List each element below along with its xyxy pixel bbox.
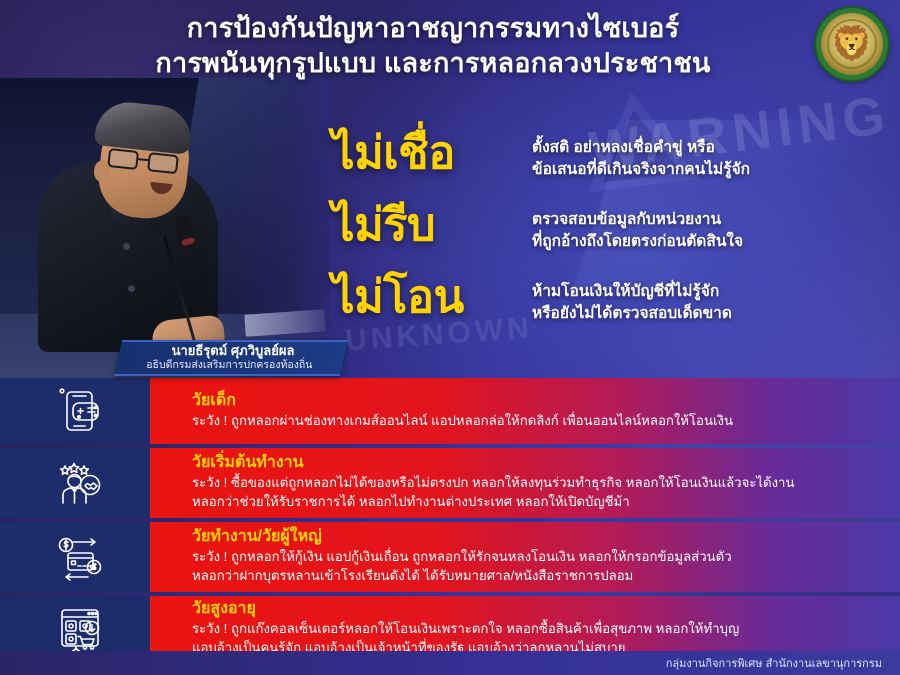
speaker-photo — [0, 78, 330, 378]
age-group-row-early-career: วัยเริ่มต้นทำงาน ระวัง ! ซื้อของแต่ถูกหล… — [0, 448, 900, 518]
age-group-title-2: วัยเริ่มต้นทำงาน — [192, 453, 886, 473]
slogan-row-3: ไม่โอน ห้ามโอนเงินให้บัญชีที่ไม่รู้จัก ห… — [332, 274, 900, 336]
age-group-bar-3: วัยทำงาน/วัยผู้ใหญ่ ระวัง ! ถูกหลอกให้กู… — [150, 522, 900, 592]
slogan-3-line-1: ห้ามโอนเงินให้บัญชีที่ไม่รู้จัก — [532, 281, 732, 303]
age-group-row-children: วัยเด็ก ระวัง ! ถูกหลอกผ่านช่องทางเกมส์อ… — [0, 378, 900, 444]
age-group-2-line-1: ระวัง ! ซื้อของแต่ถูกหลอกไม่ได้ของหรือไม… — [192, 474, 886, 493]
age-group-text-1: ระวัง ! ถูกหลอกผ่านช่องทางเกมส์ออนไลน์ แ… — [192, 412, 886, 431]
footer: กลุ่มงานกิจการพิเศษ สำนักงานเลขานุการกรม — [0, 651, 900, 675]
slogan-description-1: ตั้งสติ อย่าหลงเชื่อคำขู่ หรือ ข้อเสนอที… — [532, 130, 750, 181]
slogan-1-line-1: ตั้งสติ อย่าหลงเชื่อคำขู่ หรือ — [532, 137, 750, 159]
page-title-line-1: การป้องกันปัญหาอาชญากรรมทางไซเบอร์ — [155, 11, 710, 46]
age-group-3-line-1: ระวัง ! ถูกหลอกให้กู้เงิน แอปกู้เงินเถื่… — [192, 548, 886, 567]
age-group-text-3: ระวัง ! ถูกหลอกให้กู้เงิน แอปกู้เงินเถื่… — [192, 548, 886, 585]
slogan-description-3: ห้ามโอนเงินให้บัญชีที่ไม่รู้จัก หรือยังไ… — [532, 274, 732, 325]
age-group-4-line-1: ระวัง ! ถูกแก๊งคอลเซ็นเตอร์หลอกให้โอนเงิ… — [192, 620, 886, 639]
age-group-title-4: วัยสูงอายุ — [192, 599, 886, 619]
slogan-keyword-3: ไม่โอน — [332, 274, 532, 319]
slogan-row-1: ไม่เชื่อ ตั้งสติ อย่าหลงเชื่อคำขู่ หรือ … — [332, 130, 900, 192]
slogan-3-line-2: หรือยังไม่ได้ตรวจสอบเด็ดขาด — [532, 303, 732, 325]
department-seal-icon: 🦁 — [816, 8, 888, 80]
age-group-title-1: วัยเด็ก — [192, 391, 886, 411]
age-group-1-line-1: ระวัง ! ถูกหลอกผ่านช่องทางเกมส์ออนไลน์ แ… — [192, 412, 886, 431]
icon-cell-2 — [0, 448, 150, 518]
age-group-bar-1: วัยเด็ก ระวัง ! ถูกหลอกผ่านช่องทางเกมส์อ… — [150, 378, 900, 444]
page-title-line-2: การพนันทุกรูปแบบ และการหลอกลวงประชาชน — [155, 46, 710, 81]
slogan-keyword-2: ไม่รีบ — [332, 202, 532, 247]
money-transfer-card-icon — [57, 532, 103, 582]
photo-edge-fade — [0, 78, 330, 378]
icon-cell-3 — [0, 522, 150, 592]
speaker-name: นายธีรุตม์ ศุภวิบูลย์ผล — [171, 344, 294, 358]
speaker-position: อธิบดีกรมส่งเสริมการปกครองท้องถิ่น — [146, 359, 312, 372]
age-group-bar-2: วัยเริ่มต้นทำงาน ระวัง ! ซื้อของแต่ถูกหล… — [150, 448, 900, 518]
businessman-handshake-rating-icon — [57, 458, 103, 508]
online-shopping-cart-icon — [57, 604, 103, 654]
age-group-3-line-2: หลอกว่าฝากบุตรหลานเข้าโรงเรียนดังได้ ได้… — [192, 567, 886, 586]
age-group-2-line-2: หลอกว่าช่วยให้รับราชการได้ หลอกไปทำงานต่… — [192, 493, 886, 512]
slogan-2-line-1: ตรวจสอบข้อมูลกับหน่วยงาน — [532, 209, 743, 231]
age-group-row-working-adult: วัยทำงาน/วัยผู้ใหญ่ ระวัง ! ถูกหลอกให้กู… — [0, 522, 900, 592]
mobile-game-controller-icon — [57, 386, 103, 436]
speaker-name-badge: นายธีรุตม์ ศุภวิบูลย์ผล อธิบดีกรมส่งเสริ… — [114, 340, 348, 376]
age-group-list: วัยเด็ก ระวัง ! ถูกหลอกผ่านช่องทางเกมส์อ… — [0, 378, 900, 666]
slogan-1-line-2: ข้อเสนอที่ดีเกินจริงจากคนไม่รู้จัก — [532, 159, 750, 181]
age-group-text-2: ระวัง ! ซื้อของแต่ถูกหลอกไม่ได้ของหรือไม… — [192, 474, 886, 511]
slogan-row-2: ไม่รีบ ตรวจสอบข้อมูลกับหน่วยงาน ที่ถูกอ้… — [332, 202, 900, 264]
age-group-title-3: วัยทำงาน/วัยผู้ใหญ่ — [192, 527, 886, 547]
icon-cell-1 — [0, 378, 150, 444]
slogan-block: ไม่เชื่อ ตั้งสติ อย่าหลงเชื่อคำขู่ หรือ … — [332, 120, 900, 325]
page-title: การป้องกันปัญหาอาชญากรรมทางไซเบอร์ การพน… — [155, 11, 744, 81]
slogan-description-2: ตรวจสอบข้อมูลกับหน่วยงาน ที่ถูกอ้างถึงโด… — [532, 202, 743, 253]
slogan-2-line-2: ที่ถูกอ้างถึงโดยตรงก่อนตัดสินใจ — [532, 231, 743, 253]
footer-credit: กลุ่มงานกิจการพิเศษ สำนักงานเลขานุการกรม — [666, 654, 882, 672]
slogan-keyword-1: ไม่เชื่อ — [332, 130, 532, 175]
seal-lion-glyph: 🦁 — [831, 27, 873, 61]
header: การป้องกันปัญหาอาชญากรรมทางไซเบอร์ การพน… — [0, 0, 900, 92]
